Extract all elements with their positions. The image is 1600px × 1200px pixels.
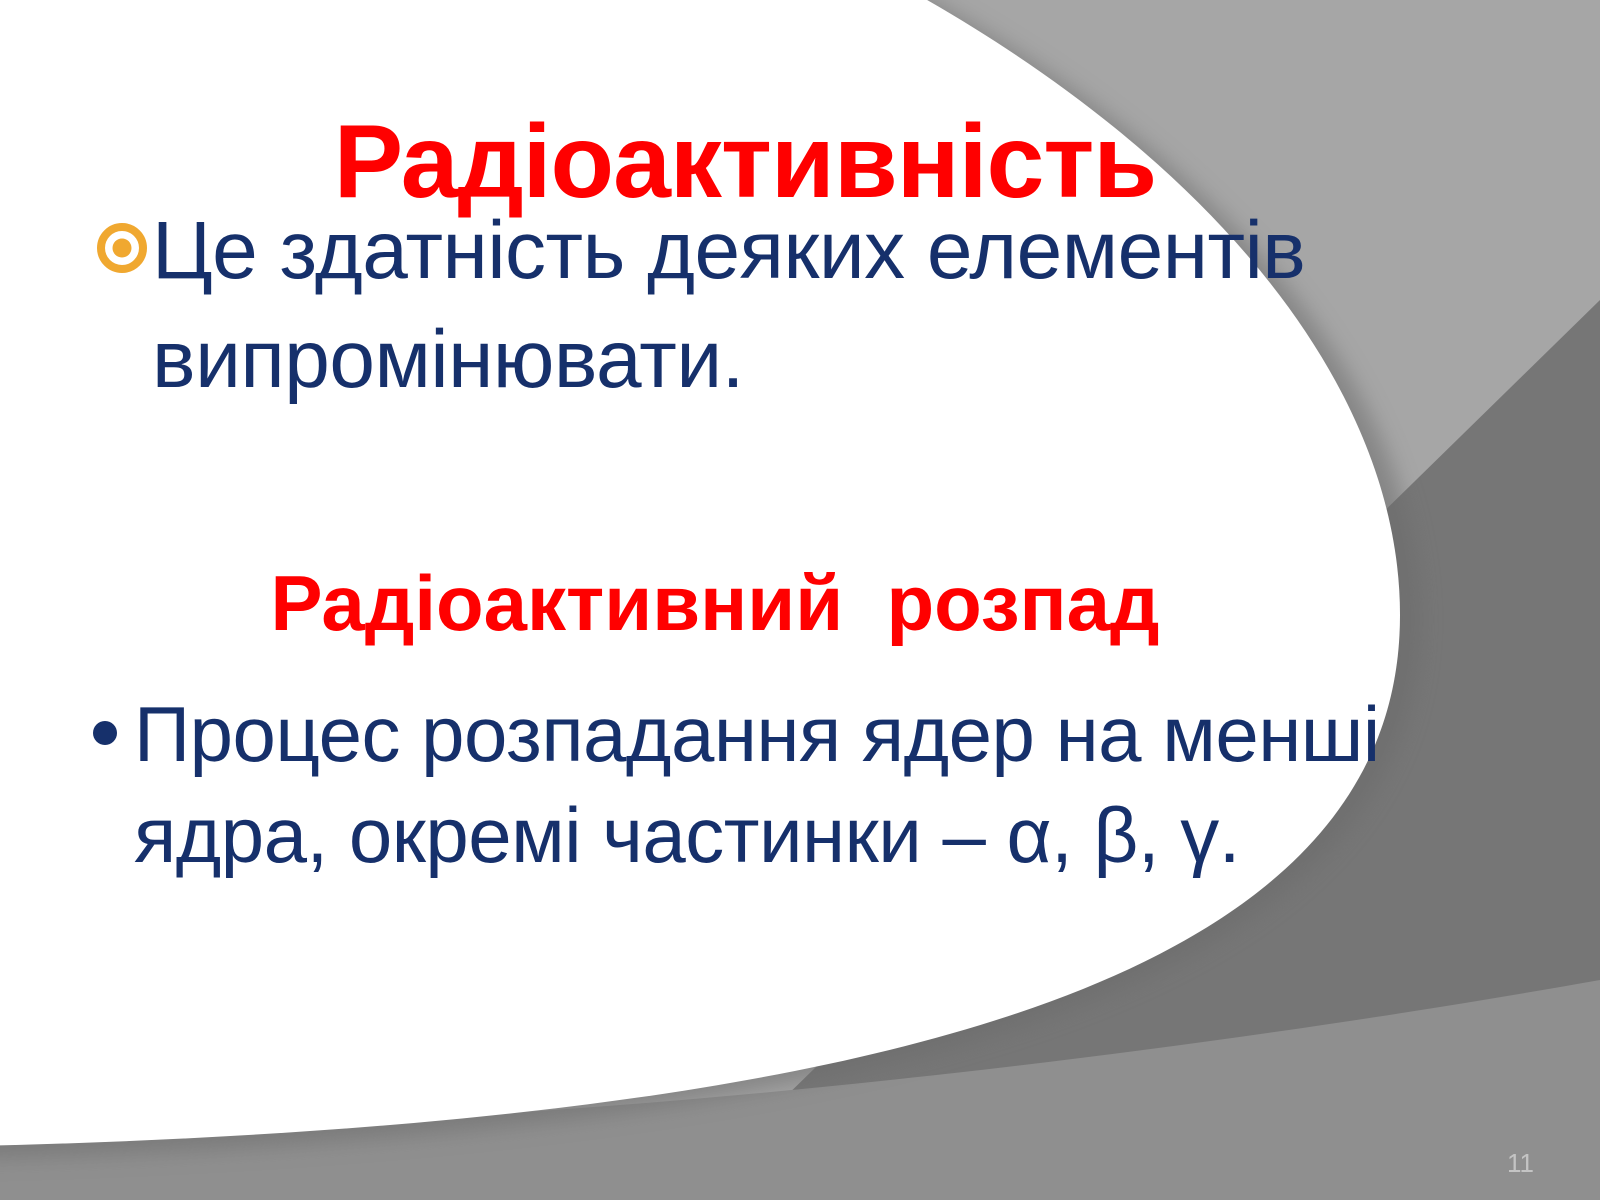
bullet-item-decay: Процес розпадання ядер на менші ядра, ок… xyxy=(92,684,1472,887)
slide-canvas: Радіоактивність Це здатність деяких елем… xyxy=(0,0,1600,1200)
bullet-definition-text: Це здатність деяких елементів випромінюв… xyxy=(152,196,1466,414)
slide-content: Радіоактивність Це здатність деяких елем… xyxy=(0,0,1600,1200)
bullet-row: Процес розпадання ядер на менші ядра, ок… xyxy=(92,684,1472,887)
section-subheading: Радіоактивний розпад xyxy=(0,561,1430,647)
ring-bullet-icon xyxy=(96,222,148,274)
bullet-row: Це здатність деяких елементів випромінюв… xyxy=(96,196,1466,414)
bullet-item-definition: Це здатність деяких елементів випромінюв… xyxy=(96,196,1466,414)
bullet-decay-text: Процес розпадання ядер на менші ядра, ок… xyxy=(134,684,1472,887)
slide-page-number: 11 xyxy=(1507,1150,1534,1176)
dot-bullet-icon xyxy=(92,720,118,746)
